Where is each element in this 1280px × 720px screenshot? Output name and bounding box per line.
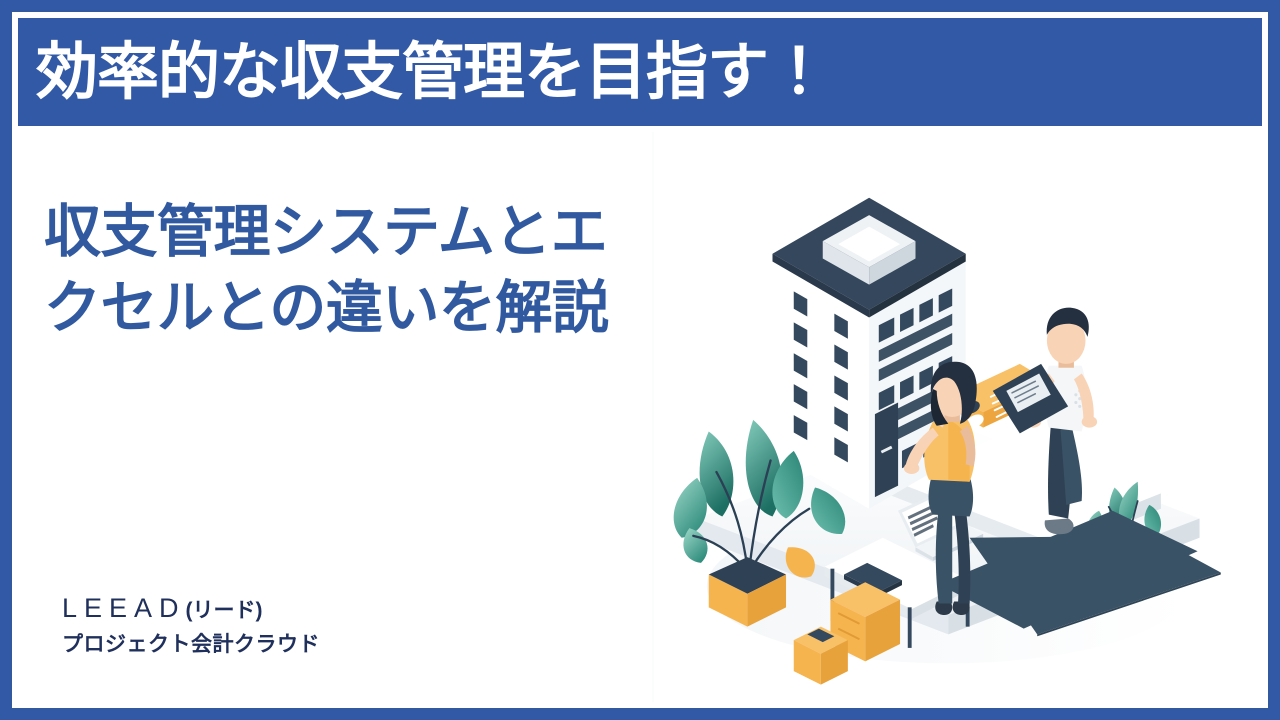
- header-bar: 効率的な収支管理を目指す！: [18, 18, 1262, 126]
- right-pane: [654, 132, 1262, 702]
- logo-brand-reading: (リード): [186, 599, 263, 622]
- logo-tagline: プロジェクト会計クラウド: [62, 628, 320, 658]
- building-entrance: [875, 403, 898, 498]
- slide-inner: 効率的な収支管理を目指す！ 収支管理システムとエクセルとの違いを解説 LEEAD…: [10, 10, 1270, 710]
- left-pane: 収支管理システムとエクセルとの違いを解説 LEEAD(リード) プロジェクト会計…: [18, 132, 654, 702]
- slide-frame: 効率的な収支管理を目指す！ 収支管理システムとエクセルとの違いを解説 LEEAD…: [0, 0, 1280, 720]
- body-area: 収支管理システムとエクセルとの違いを解説 LEEAD(リード) プロジェクト会計…: [18, 132, 1262, 702]
- logo-brand-name: LEEAD: [62, 593, 186, 623]
- header-title: 効率的な収支管理を目指す！: [18, 41, 829, 103]
- isometric-office-illustration: [654, 132, 1262, 702]
- page-title: 収支管理システムとエクセルとの違いを解説: [44, 194, 644, 347]
- brand-logo: LEEAD(リード) プロジェクト会計クラウド: [62, 594, 320, 658]
- logo-primary-line: LEEAD(リード): [62, 594, 320, 624]
